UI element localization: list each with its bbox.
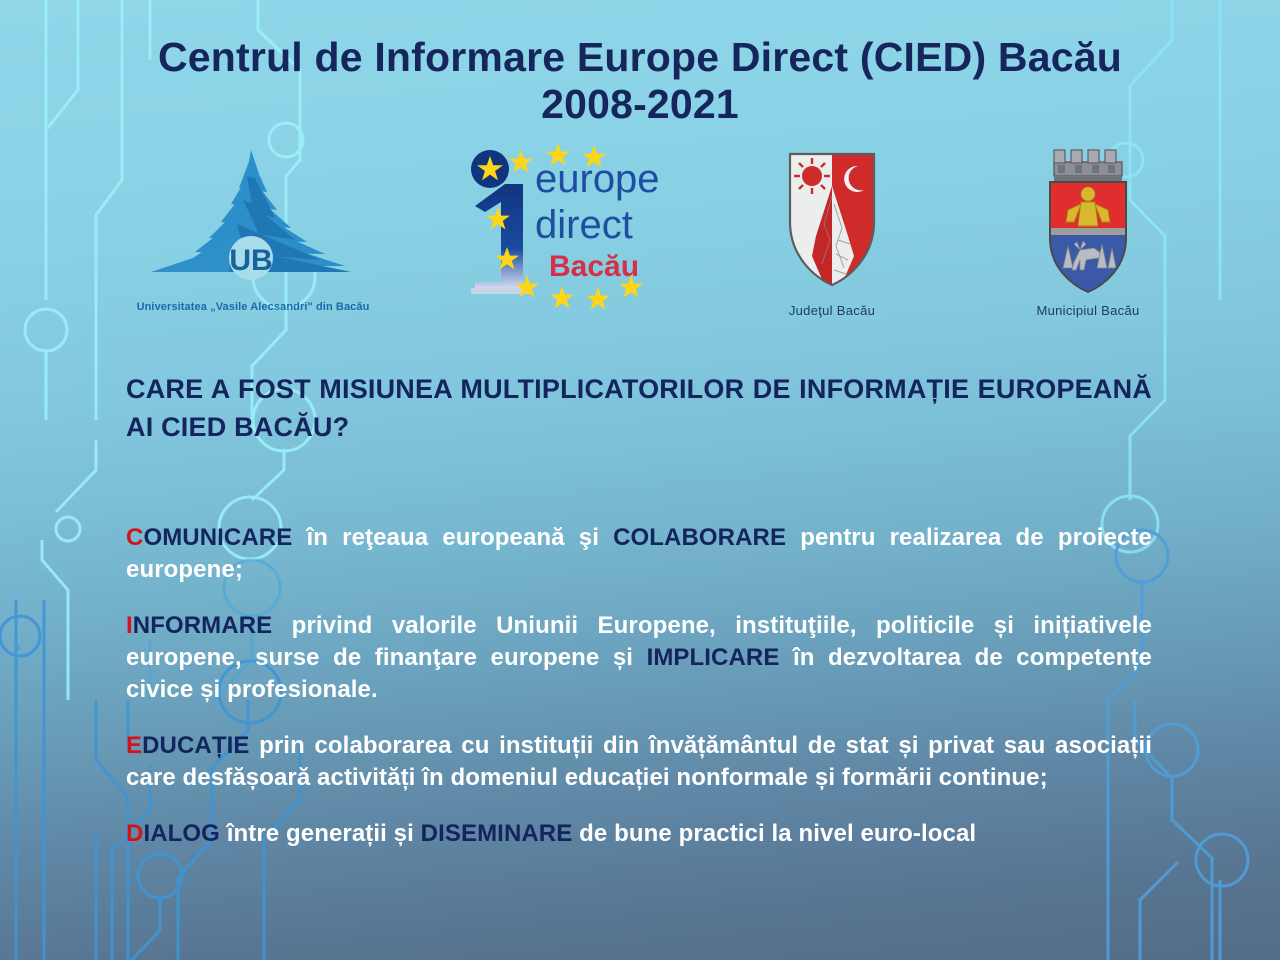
slide-title: Centrul de Informare Europe Direct (CIED…: [70, 34, 1210, 128]
keyword-initial-c: C: [126, 524, 143, 551]
mission-item-dialog: DIALOG între generații și DISEMINARE de …: [126, 818, 1152, 850]
logo-strip: UB Universitatea „Vasile Alecsandri" din…: [0, 140, 1280, 335]
europe-direct-word-bacau: Bacău: [549, 250, 639, 283]
keyword-comunicare: OMUNICARE: [143, 524, 292, 551]
svg-text:UB: UB: [229, 244, 272, 277]
presentation-slide: Centrul de Informare Europe Direct (CIED…: [0, 0, 1280, 960]
text-dialog-mid: între generații și: [220, 820, 421, 847]
mission-list: COMUNICARE în reţeaua europeană şi COLAB…: [126, 498, 1152, 850]
keyword-informare: NFORMARE: [133, 612, 272, 639]
europe-direct-word-direct: direct: [535, 203, 633, 247]
ub-sunburst-icon: UB: [135, 148, 371, 298]
keyword-initial-e: E: [126, 732, 142, 759]
municipiul-bacau-caption: Municipiul Bacău: [1008, 303, 1168, 318]
text-dialog-tail: de bune practici la nivel euro-local: [572, 820, 976, 847]
logo-judetul-bacau: Judeţul Bacău: [752, 144, 912, 318]
judetul-bacau-shield-icon: [772, 144, 892, 294]
judetul-bacau-caption: Judeţul Bacău: [752, 303, 912, 318]
keyword-diseminare: DISEMINARE: [421, 820, 573, 847]
mural-crown-icon: [1054, 150, 1122, 181]
keyword-initial-d: D: [126, 820, 143, 847]
mission-item-informare: INFORMARE privind valorile Uniunii Europ…: [126, 610, 1152, 706]
text-educatie-mid: prin colaborarea cu instituții din învăț…: [126, 732, 1152, 791]
ub-logo-caption: Universitatea „Vasile Alecsandri" din Ba…: [118, 301, 388, 313]
municipiul-bacau-shield-icon: [1028, 144, 1148, 294]
title-line-2: 2008-2021: [70, 81, 1210, 128]
logo-municipiul-bacau: Municipiul Bacău: [1008, 144, 1168, 318]
mission-item-educatie: EDUCAȚIE prin colaborarea cu instituții …: [126, 730, 1152, 794]
keyword-educatie: DUCAȚIE: [142, 732, 249, 759]
keyword-implicare: IMPLICARE: [647, 644, 780, 671]
europe-direct-icon: europe direct Bacău: [461, 142, 666, 312]
logo-universitatea-vasile-alecsandri: UB Universitatea „Vasile Alecsandri" din…: [118, 148, 388, 313]
mission-item-comunicare: COMUNICARE în reţeaua europeană şi COLAB…: [126, 522, 1152, 586]
keyword-dialog: IALOG: [143, 820, 220, 847]
page-heading-question: CARE A FOST MISIUNEA MULTIPLICATORILOR D…: [126, 370, 1152, 446]
keyword-colaborare: COLABORARE: [613, 524, 786, 551]
logo-europe-direct-bacau: europe direct Bacău: [448, 142, 678, 317]
keyword-initial-i: I: [126, 612, 133, 639]
title-line-1: Centrul de Informare Europe Direct (CIED…: [70, 34, 1210, 81]
text-comunicare-mid: în reţeaua europeană şi: [292, 524, 613, 551]
europe-direct-word-europe: europe: [535, 157, 660, 201]
